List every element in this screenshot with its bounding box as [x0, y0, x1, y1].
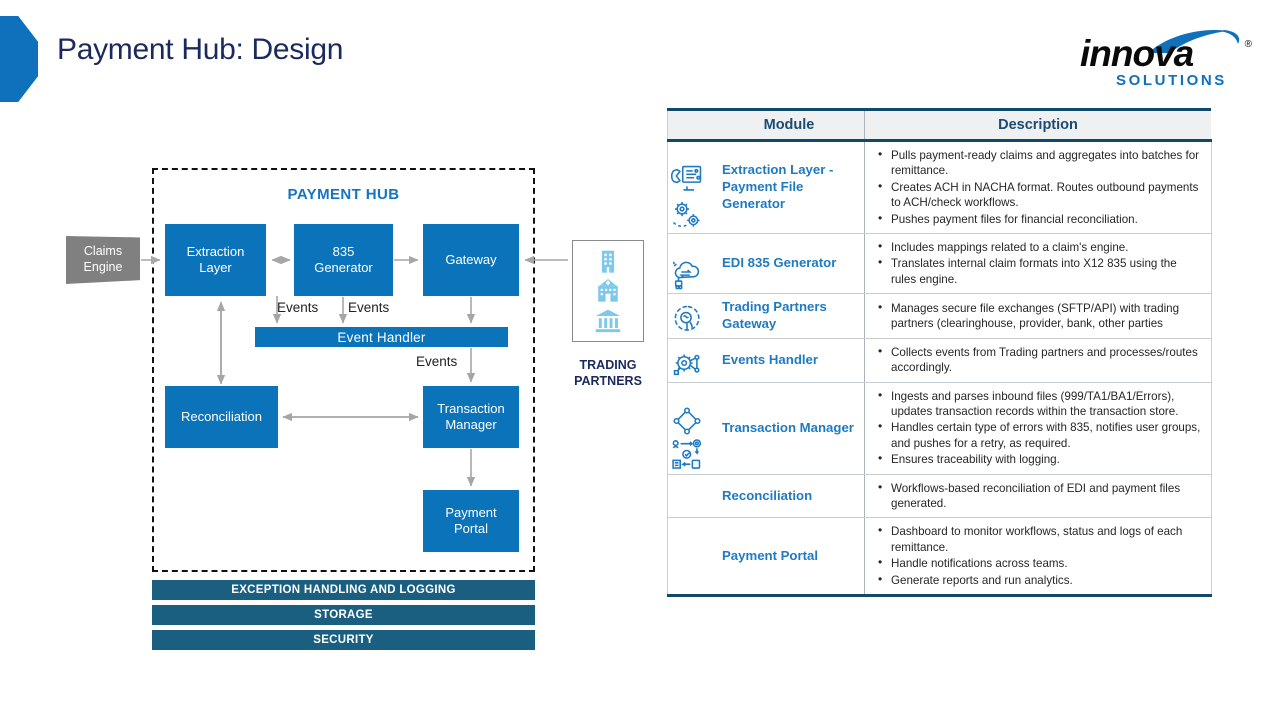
- band-exception-handling-label: EXCEPTION HANDLING AND LOGGING: [231, 584, 456, 596]
- table-header-module: Module: [714, 110, 865, 141]
- page-title: Payment Hub: Design: [57, 33, 343, 67]
- node-835-generator[interactable]: 835 Generator: [294, 224, 393, 296]
- band-exception-handling: EXCEPTION HANDLING AND LOGGING: [152, 580, 535, 600]
- hospital-icon: [591, 276, 625, 305]
- node-gateway-label: Gateway: [445, 252, 496, 268]
- table-header-description: Description: [865, 110, 1212, 141]
- row-icon-cell: [668, 294, 715, 339]
- node-event-handler[interactable]: Event Handler: [255, 327, 508, 347]
- architecture-diagram: PAYMENT HUB Claims Engine Extraction Lay…: [0, 96, 660, 676]
- bullet-item: Translates internal claim formats into X…: [891, 256, 1203, 287]
- office-building-icon: [591, 247, 625, 276]
- logo-subtitle: SOLUTIONS: [1116, 73, 1227, 88]
- bullet-item: Ingests and parses inbound files (999/TA…: [891, 389, 1203, 420]
- bullet-item: Includes mappings related to a claim's e…: [891, 240, 1203, 255]
- row-module-cell: Trading Partners Gateway: [714, 294, 865, 339]
- gear-brain-icon: [670, 302, 704, 336]
- payment-hub-label: PAYMENT HUB: [152, 186, 535, 203]
- edge-label-events-1: Events: [277, 300, 318, 315]
- node-extraction-layer[interactable]: Extraction Layer: [165, 224, 266, 296]
- band-security: SECURITY: [152, 630, 535, 650]
- document-extraction-icon: [670, 163, 704, 197]
- row-icon-cell: [668, 234, 715, 294]
- bullet-item: Handles certain type of errors with 835,…: [891, 420, 1203, 451]
- row-icon-cell: [668, 141, 715, 234]
- edge-label-events-3: Events: [416, 354, 457, 369]
- bullet-item: Workflows-based reconciliation of EDI an…: [891, 481, 1203, 512]
- row-module-cell: Extraction Layer - Payment File Generato…: [714, 141, 865, 234]
- bullet-item: Ensures traceability with logging.: [891, 452, 1203, 467]
- row-icon-cell: [668, 338, 715, 382]
- band-storage: STORAGE: [152, 605, 535, 625]
- band-storage-label: STORAGE: [314, 609, 373, 621]
- row-module-cell: Reconciliation: [714, 474, 865, 518]
- diamond-nodes-icon: [670, 404, 704, 438]
- node-835-generator-label: 835 Generator: [314, 244, 373, 276]
- row-description-cell: Pulls payment-ready claims and aggregate…: [865, 141, 1212, 234]
- bullet-item: Collects events from Trading partners an…: [891, 345, 1203, 376]
- bullet-item: Pushes payment files for financial recon…: [891, 212, 1203, 227]
- row-description-cell: Includes mappings related to a claim's e…: [865, 234, 1212, 294]
- table-row: Extraction Layer - Payment File Generato…: [668, 141, 1212, 234]
- row-module-cell: Payment Portal: [714, 518, 865, 596]
- row-description-cell: Manages secure file exchanges (SFTP/API)…: [865, 294, 1212, 339]
- bullet-item: Generate reports and run analytics.: [891, 573, 1203, 588]
- node-reconciliation[interactable]: Reconciliation: [165, 386, 278, 448]
- node-event-handler-label: Event Handler: [337, 330, 425, 345]
- workflow-approval-icon: [670, 438, 704, 472]
- modules-table: Module Description: [667, 108, 1212, 597]
- row-description-cell: Ingests and parses inbound files (999/TA…: [865, 382, 1212, 474]
- table-row: Transaction Manager Ingests and parses i…: [668, 382, 1212, 474]
- row-icon-cell: [668, 518, 715, 596]
- gears-icon: [670, 197, 704, 231]
- cloud-transfer-icon: [670, 257, 704, 291]
- row-module-cell: Events Handler: [714, 338, 865, 382]
- node-payment-portal-label: Payment Portal: [445, 505, 496, 537]
- edge-label-events-2: Events: [348, 300, 389, 315]
- claims-engine-label: Claims Engine: [84, 244, 123, 275]
- claims-engine-node: Claims Engine: [66, 236, 140, 284]
- node-reconciliation-label: Reconciliation: [181, 409, 262, 425]
- bank-icon: [591, 306, 625, 335]
- table-row: Payment Portal Dashboard to monitor work…: [668, 518, 1212, 596]
- bullet-item: Dashboard to monitor workflows, status a…: [891, 524, 1203, 555]
- table-row: Reconciliation Workflows-based reconcili…: [668, 474, 1212, 518]
- logo-wordmark: innova: [1080, 35, 1193, 72]
- network-gears-icon: [670, 346, 704, 380]
- node-transaction-manager[interactable]: Transaction Manager: [423, 386, 519, 448]
- bullet-item: Handle notifications across teams.: [891, 556, 1203, 571]
- corner-chevron-decoration: [0, 16, 38, 102]
- row-icon-cell: [668, 382, 715, 474]
- band-security-label: SECURITY: [313, 634, 374, 646]
- table-header-row: Module Description: [668, 110, 1212, 141]
- table-header-icon: [668, 110, 715, 141]
- row-module-cell: Transaction Manager: [714, 382, 865, 474]
- row-description-cell: Dashboard to monitor workflows, status a…: [865, 518, 1212, 596]
- bullet-item: Manages secure file exchanges (SFTP/API)…: [891, 301, 1203, 332]
- row-description-cell: Workflows-based reconciliation of EDI an…: [865, 474, 1212, 518]
- innova-solutions-logo: innova ® SOLUTIONS: [1080, 27, 1252, 85]
- logo-registered-mark: ®: [1245, 39, 1252, 50]
- node-extraction-layer-label: Extraction Layer: [187, 244, 245, 276]
- node-payment-portal[interactable]: Payment Portal: [423, 490, 519, 552]
- row-description-cell: Collects events from Trading partners an…: [865, 338, 1212, 382]
- row-icon-cell: [668, 474, 715, 518]
- node-transaction-manager-label: Transaction Manager: [437, 401, 504, 433]
- bullet-item: Pulls payment-ready claims and aggregate…: [891, 148, 1203, 179]
- table-row: Trading Partners Gateway Manages secure …: [668, 294, 1212, 339]
- trading-partners-box: [572, 240, 644, 342]
- trading-partners-label: TRADING PARTNERS: [556, 358, 660, 389]
- node-gateway[interactable]: Gateway: [423, 224, 519, 296]
- table-row: EDI 835 Generator Includes mappings rela…: [668, 234, 1212, 294]
- row-module-cell: EDI 835 Generator: [714, 234, 865, 294]
- bullet-item: Creates ACH in NACHA format. Routes outb…: [891, 180, 1203, 211]
- slide-root: Payment Hub: Design innova ® SOLUTIONS P…: [0, 0, 1280, 720]
- table-row: Events Handler Collects events from Trad…: [668, 338, 1212, 382]
